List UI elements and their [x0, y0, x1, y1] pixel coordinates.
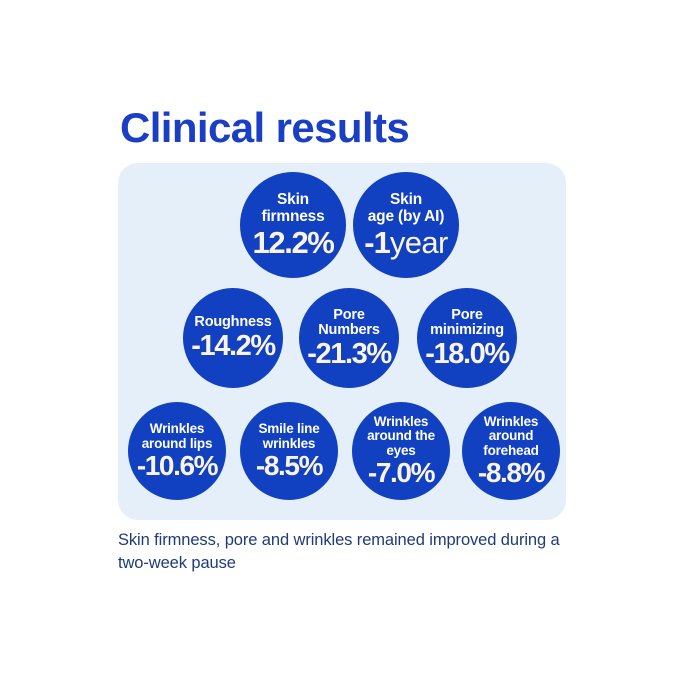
stat-value-unit: year [390, 225, 448, 260]
stat-label-line3: eyes [386, 443, 415, 458]
stat-label-line2: around [489, 428, 534, 443]
stat-label: Wrinkles around forehead [479, 415, 542, 458]
stat-label-line3: forehead [483, 443, 538, 458]
stat-label-line1: Pore [333, 307, 364, 323]
stat-label: Wrinkles around lips [138, 422, 217, 451]
page-title: Clinical results [120, 107, 409, 149]
stat-label-line2: wrinkles [263, 436, 315, 451]
stat-label-line1: Pore [451, 307, 482, 323]
stat-bubble-pore-minimizing: Pore minimizing -18.0% [417, 288, 517, 388]
stat-label-line2: minimizing [430, 322, 504, 338]
stat-label-line2: age (by AI) [368, 208, 444, 225]
stat-value: -7.0% [368, 459, 434, 487]
stat-label: Smile line wrinkles [254, 422, 323, 451]
stat-value: -10.6% [137, 452, 217, 480]
stat-value: -1year [364, 227, 447, 258]
stat-bubble-wrinkles-around-eyes: Wrinkles around the eyes -7.0% [352, 402, 450, 500]
stat-label: Pore minimizing [426, 308, 508, 339]
stat-label: Pore Numbers [314, 308, 383, 339]
stat-label-line1: Roughness [194, 314, 271, 330]
stat-label: Wrinkles around the eyes [363, 415, 439, 458]
stat-label-line1: Wrinkles [374, 414, 428, 429]
caption-text: Skin firmness, pore and wrinkles remaine… [118, 529, 578, 576]
stat-bubble-skin-firmness: Skin firmness 12.2% [240, 172, 346, 278]
stat-bubble-skin-age: Skin age (by AI) -1year [353, 172, 459, 278]
stat-label: Skin age (by AI) [364, 192, 448, 225]
stat-value: -8.8% [478, 459, 544, 487]
stat-value-number: -1 [364, 225, 390, 260]
stat-label-line2: around the [367, 428, 435, 443]
stat-bubble-smile-line-wrinkles: Smile line wrinkles -8.5% [240, 402, 338, 500]
stat-value: -8.5% [256, 452, 322, 480]
stat-bubble-roughness: Roughness -14.2% [183, 288, 283, 388]
stat-value: -21.3% [307, 340, 391, 369]
infographic-canvas: Clinical results Skin firmness 12.2% Ski… [0, 0, 679, 679]
stat-value: -14.2% [191, 332, 275, 361]
stat-bubble-pore-numbers: Pore Numbers -21.3% [299, 288, 399, 388]
stat-label-line1: Skin [390, 191, 422, 208]
stat-label-line1: Wrinkles [484, 414, 538, 429]
stat-bubble-wrinkles-around-lips: Wrinkles around lips -10.6% [128, 402, 226, 500]
stat-label: Roughness [190, 315, 275, 331]
stat-label-line1: Skin [277, 191, 309, 208]
stat-value: -18.0% [425, 340, 509, 369]
stat-bubble-wrinkles-around-forehead: Wrinkles around forehead -8.8% [462, 402, 560, 500]
stat-label-line1: Smile line [258, 421, 319, 436]
stat-label-line2: around lips [142, 436, 213, 451]
stat-label-line2: Numbers [318, 322, 379, 338]
stat-label: Skin firmness [257, 192, 328, 225]
stat-label-line1: Wrinkles [150, 421, 204, 436]
stat-label-line2: firmness [261, 208, 324, 225]
stat-value: 12.2% [253, 227, 334, 258]
